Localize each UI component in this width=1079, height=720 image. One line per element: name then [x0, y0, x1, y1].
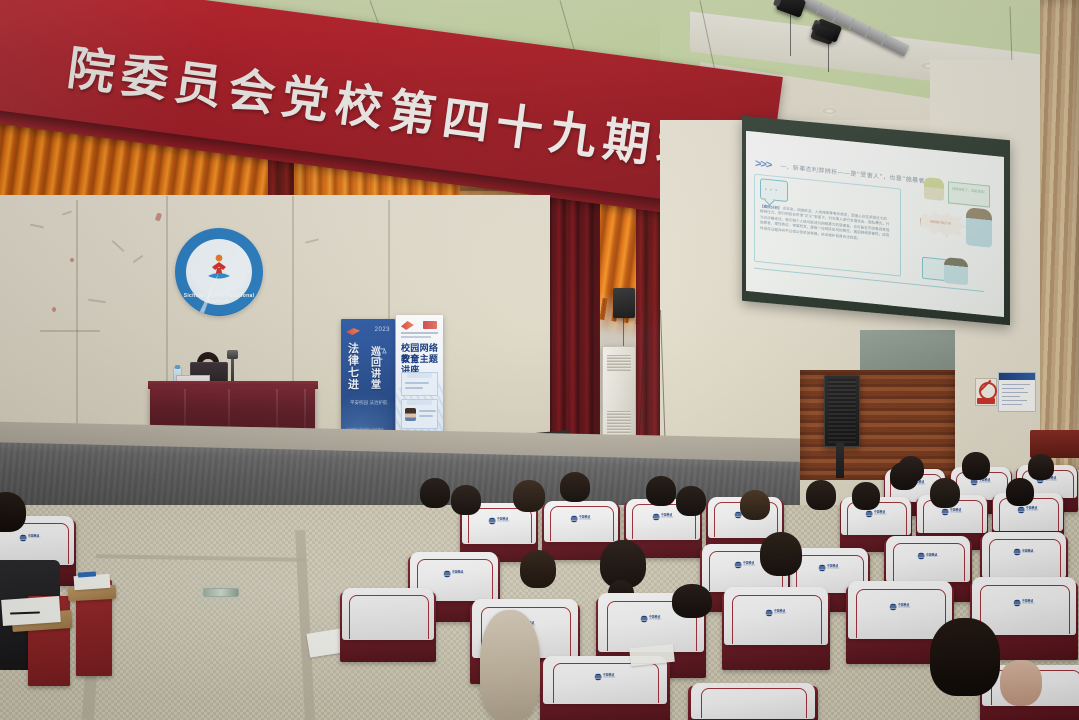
audience-head [852, 482, 880, 510]
projection-screen: >>> 一、新事态利弊辨析——是“受害人”，也是“施暴者” • • • 【案例分… [746, 131, 1004, 317]
bubble-dots: • • • [765, 187, 778, 194]
audience-head [560, 472, 590, 502]
org-logo-right-icon [423, 321, 437, 329]
audience-head-front [930, 618, 1000, 696]
illustration-burst-text: 网络暴力猛于虎 [930, 219, 951, 225]
china-mobile-logo-icon [890, 603, 897, 610]
projection-screen-frame: >>> 一、新事态利弊辨析——是“受害人”，也是“施暴者” • • • 【案例分… [742, 116, 1010, 325]
speaker-stand [836, 443, 844, 478]
audience-head [513, 480, 545, 512]
wall-mark-red [52, 307, 56, 312]
no-smoking-sign [975, 378, 997, 406]
illustration-burst: 网络暴力猛于虎 [920, 208, 966, 239]
slide-chevron-icon: >>> [755, 158, 771, 172]
slide-illustration: 别再转发了，这是谣言！ 网络暴力猛于虎 [918, 172, 996, 290]
hanging-wire [790, 14, 791, 56]
china-mobile-logo-icon [1014, 599, 1021, 606]
audience-head [1028, 454, 1054, 480]
emblem-en-name: Sichuan TOP IT Vocational Institute [175, 293, 263, 305]
china-mobile-logo-icon [653, 513, 660, 520]
backdrop-seam [388, 200, 390, 320]
rollup-title-line1: 法律七进 [348, 343, 366, 391]
audience-head [420, 478, 450, 508]
china-mobile-logo-icon [942, 508, 949, 515]
org-line-1 [401, 332, 438, 334]
china-mobile-logo-icon [866, 510, 873, 517]
backdrop-seam [76, 200, 78, 455]
air-conditioner-unit [602, 346, 636, 446]
speech-bubble-icon: • • • [760, 178, 788, 202]
illustration-boy-icon [966, 207, 992, 248]
china-mobile-logo-icon [1014, 549, 1021, 556]
china-mobile-logo-icon [489, 517, 496, 524]
rollup-year: 2023 [375, 327, 390, 333]
audience-head [672, 584, 712, 618]
china-mobile-logo-icon [819, 564, 826, 571]
downlight-icon [823, 108, 836, 114]
china-mobile-logo-icon [1018, 506, 1025, 513]
microphone-head [227, 350, 238, 359]
audience-face-front [1000, 660, 1042, 706]
school-emblem: Sichuan TOP IT Vocational Institute [175, 228, 263, 316]
hanging-speaker [613, 288, 635, 318]
speaker-photo [405, 408, 416, 421]
speaker-grille [828, 379, 856, 443]
rollup-title-line2: 巡回讲堂 [371, 347, 389, 391]
org-line-2 [401, 336, 431, 338]
fire-safety-poster [998, 372, 1036, 412]
audience-head-long-hair [760, 532, 802, 576]
china-mobile-logo-icon [918, 553, 925, 560]
china-mobile-logo-icon [641, 616, 648, 623]
audience-head [520, 550, 556, 588]
presentation-slide: >>> 一、新事态利弊辨析——是“受害人”，也是“施暴者” • • • 【案例分… [746, 131, 1004, 317]
audience-head [930, 478, 960, 508]
poster-header-bar [999, 373, 1035, 380]
floor-marker-light [203, 588, 239, 597]
illustration-boy2-icon [944, 257, 968, 285]
seat [340, 592, 436, 662]
audience-head [1006, 478, 1034, 506]
rollup-banner-legal-lecture: 2023 法律七进 巡回讲堂 平安校园 法治护航 主办单位 承办单位 协办单位 [341, 319, 395, 435]
rollup-logo-mark-icon [346, 328, 360, 335]
speaker-wire [623, 316, 624, 348]
auditorium-photo: 院委员会党校第四十九期培训班开学典礼 Sichuan TOP IT Vocati… [0, 0, 1079, 720]
audience-head [676, 486, 706, 516]
china-mobile-logo-icon [595, 674, 602, 681]
pa-speaker-cabinet [824, 375, 860, 447]
org-logo-left-icon [401, 321, 414, 330]
audience-head [806, 480, 836, 510]
wall-scuff [40, 330, 100, 332]
china-mobile-logo-icon [571, 515, 578, 522]
illustration-girl-icon [924, 177, 944, 201]
audience-head [890, 462, 918, 490]
wall-mark-red [70, 258, 74, 262]
china-mobile-logo-icon [444, 570, 451, 577]
audience-head-long-hair [600, 540, 646, 588]
fur-coat-attendee [480, 610, 540, 720]
seat: 中国移动China Mobile [540, 660, 670, 720]
audience-head [962, 452, 990, 480]
hanging-wire [828, 38, 829, 72]
audience-head [451, 485, 481, 515]
seat: 中国移动China Mobile [722, 592, 830, 670]
china-mobile-logo-icon [766, 609, 773, 616]
audience-head [740, 490, 770, 520]
rollup-banner-cybersecurity: 校园网络安全 教育主题讲座 [396, 315, 443, 435]
audience-head [646, 476, 676, 506]
seat [688, 686, 818, 720]
illustration-speech-box: 别再转发了，这是谣言！ [948, 181, 990, 207]
china-mobile-logo-icon [735, 562, 742, 569]
decorative-pillar [1040, 0, 1079, 470]
rollup-subtitle: 平安校园 法治护航 [350, 401, 387, 407]
no-smoking-label [977, 398, 995, 404]
illustration-bubble-text: 别再转发了，这是谣言！ [952, 187, 987, 196]
china-mobile-logo-icon [20, 534, 27, 541]
